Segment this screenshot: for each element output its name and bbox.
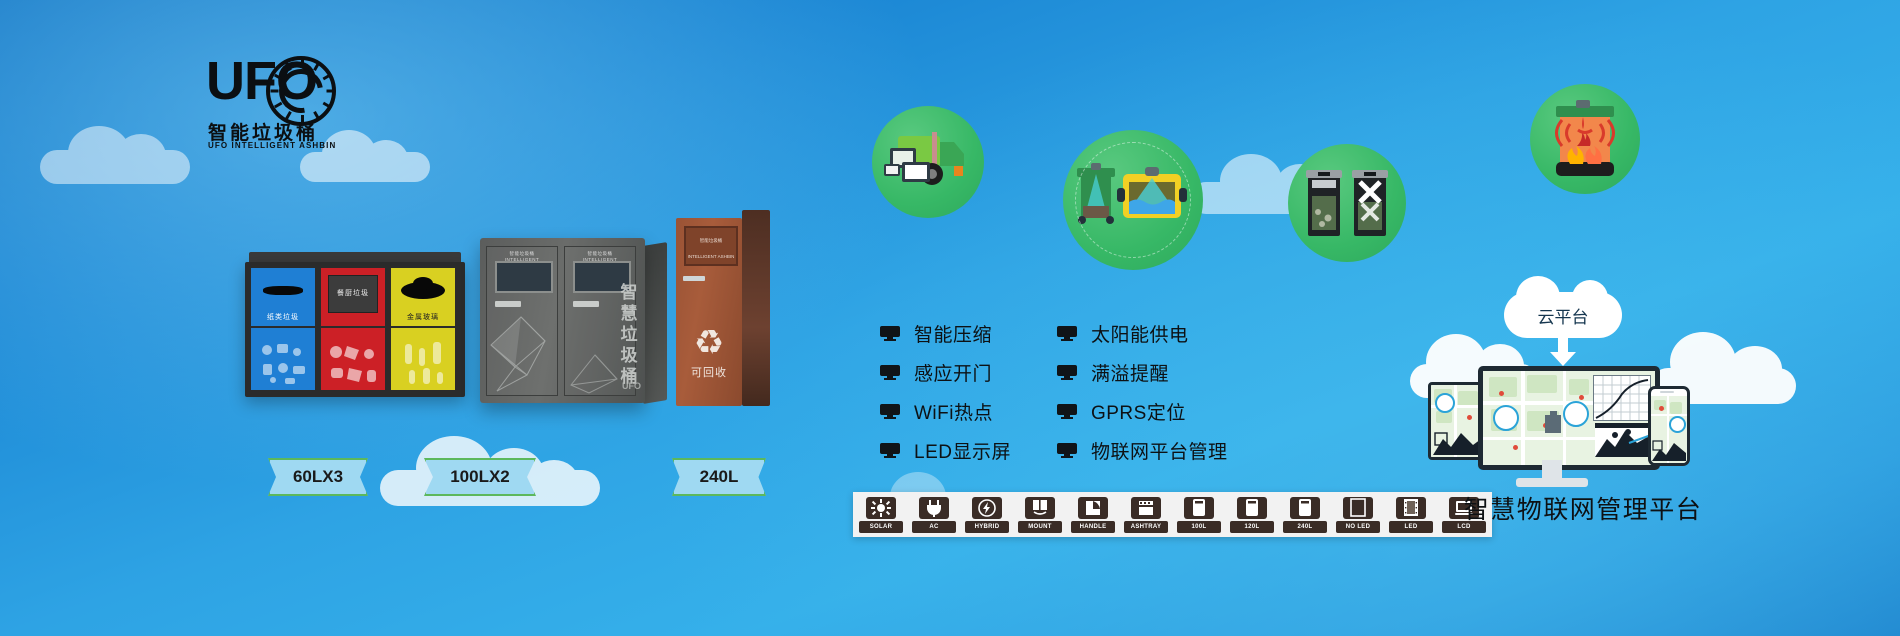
monitor-icon [880, 365, 900, 380]
product-tri-bin: 纸类垃圾 餐厨垃圾 [245, 262, 465, 397]
recycle-bin-plate: 智能垃圾桶 INTELLIGENT ASHBIN [684, 226, 738, 266]
recycle-icon: ♻ [690, 326, 728, 360]
logo-ring-icon [266, 56, 336, 126]
map-view [1651, 396, 1687, 463]
feature-column-left: 智能压缩 感应开门 WiFi热点 LED显示屏 [880, 320, 1011, 464]
feature-label: 感应开门 [914, 359, 992, 386]
circle-fire-alarm [1530, 84, 1640, 194]
recycle-bin-handle[interactable] [683, 276, 705, 281]
spec-label: ASHTRAY [1124, 521, 1168, 533]
line-chart-thumbnail [1593, 375, 1651, 421]
feature-label: WiFi热点 [914, 398, 993, 425]
spec-label: 120L [1230, 521, 1274, 533]
feature-item: 感应开门 [880, 359, 1011, 386]
tri-bin-label-0: 纸类垃圾 [251, 312, 315, 322]
bin-fire-alarm-icon [1530, 84, 1640, 194]
cloud-platform-label: 云平台 [1504, 292, 1622, 338]
feature-label: 智能压缩 [914, 320, 992, 347]
bar-chart-thumbnail [1595, 423, 1651, 457]
garbage-truck-icon [872, 106, 984, 218]
feature-label: 满溢提醒 [1091, 359, 1169, 386]
spec-item-ashtray[interactable]: ASHTRAY [1124, 497, 1168, 533]
feature-item: WiFi热点 [880, 398, 1011, 425]
brand-name-en: UFO INTELLIGENT ASHBIN [208, 141, 336, 150]
duo-bin-handle[interactable] [573, 301, 599, 307]
monitor-icon [880, 326, 900, 341]
mount-icon [1025, 497, 1055, 519]
feature-label: LED显示屏 [914, 437, 1011, 464]
platform-title: 智慧物联网管理平台 [1398, 490, 1768, 526]
spec-label: HYBRID [965, 521, 1009, 533]
feature-item: 物联网平台管理 [1057, 437, 1228, 464]
product-duo-bin: 智能垃圾桶 INTELLIGENT ASHBIN 智能垃圾桶 INTELLIGE… [480, 238, 645, 403]
cloud-platform-illustration: 云平台 [1432, 292, 1732, 502]
circle-fill-level-sensor [1063, 130, 1203, 270]
spec-item-hybrid[interactable]: HYBRID [965, 497, 1009, 533]
spec-label: 100L [1177, 521, 1221, 533]
feature-list: 智能压缩 感应开门 WiFi热点 LED显示屏 太阳能供电 满溢提醒 [880, 320, 1227, 464]
handle-icon [1078, 497, 1108, 519]
capacity-banner-duo: 100LX2 [424, 458, 536, 496]
spec-icon-strip: SOLAR AC HYBRID MOUNT [853, 492, 1492, 537]
duo-bin-logo-mini: UFO [622, 381, 641, 391]
spec-label: MOUNT [1018, 521, 1062, 533]
brand-logo: UFO 智能垃圾桶 UFO INTELLIGENT ASHBIN [200, 52, 330, 157]
spec-label: 240L [1283, 521, 1327, 533]
tri-bin-label-1: 餐厨垃圾 [329, 288, 377, 298]
spec-item-handle[interactable]: HANDLE [1071, 497, 1115, 533]
map-view [1483, 371, 1655, 465]
device-desktop-monitor [1478, 366, 1660, 470]
device-smartphone [1648, 386, 1690, 466]
tri-bin-panel: 餐厨垃圾 [328, 275, 378, 313]
spec-item-ac[interactable]: AC [912, 497, 956, 533]
feature-item: LED显示屏 [880, 437, 1011, 464]
bin-120l-icon [1237, 497, 1267, 519]
circle-collection-truck [872, 106, 984, 218]
spec-item-100l[interactable]: 100L [1177, 497, 1221, 533]
spec-label: NO LED [1336, 521, 1380, 533]
capacity-banner-recycle: 240L [672, 458, 766, 496]
monitor-base [1516, 478, 1588, 487]
feature-label: GPRS定位 [1091, 398, 1186, 425]
monitor-stand [1542, 460, 1562, 480]
tri-bin-label-2: 金属玻璃 [391, 312, 455, 322]
capacity-label: 240L [700, 467, 739, 487]
hybrid-bolt-icon [972, 497, 1002, 519]
feature-label: 物联网平台管理 [1091, 437, 1228, 464]
poster-canvas: UFO 智能垃圾桶 UFO INTELLIGENT ASHBIN 纸类垃圾 [0, 0, 1900, 636]
spec-label: AC [912, 521, 956, 533]
compaction-bins-icon [1288, 144, 1406, 262]
circle-compaction [1288, 144, 1406, 262]
feature-item: GPRS定位 [1057, 398, 1228, 425]
sun-icon [866, 497, 896, 519]
monitor-icon [1057, 365, 1077, 380]
bin-240l-icon [1290, 497, 1320, 519]
capacity-label: 60LX3 [293, 467, 343, 487]
no-led-icon [1343, 497, 1373, 519]
duo-bin-body-text: 智慧垃圾桶 [619, 282, 639, 387]
monitor-icon [1057, 326, 1077, 341]
product-recycle-bin: 智能垃圾桶 INTELLIGENT ASHBIN ♻ 可回收 [676, 218, 768, 406]
capacity-label: 100LX2 [450, 467, 510, 487]
spec-item-240l[interactable]: 240L [1283, 497, 1327, 533]
plate-text-en: INTELLIGENT ASHBIN [686, 253, 736, 260]
spec-item-no-led[interactable]: NO LED [1336, 497, 1380, 533]
feature-item: 太阳能供电 [1057, 320, 1228, 347]
plug-icon [919, 497, 949, 519]
feature-item: 智能压缩 [880, 320, 1011, 347]
spec-item-120l[interactable]: 120L [1230, 497, 1274, 533]
monitor-icon [880, 443, 900, 458]
spec-item-mount[interactable]: MOUNT [1018, 497, 1062, 533]
cloud-platform-badge: 云平台 [1504, 292, 1622, 338]
duo-bin-screen [495, 261, 553, 293]
capacity-banner-tri: 60LX3 [268, 458, 368, 496]
spec-label: HANDLE [1071, 521, 1115, 533]
monitor-icon [1057, 443, 1077, 458]
spec-label: SOLAR [859, 521, 903, 533]
monitor-icon [1057, 404, 1077, 419]
feature-column-right: 太阳能供电 满溢提醒 GPRS定位 物联网平台管理 [1057, 320, 1228, 464]
feature-item: 满溢提醒 [1057, 359, 1228, 386]
recycle-bin-label: 可回收 [676, 364, 742, 380]
plate-text-cn: 智能垃圾桶 [686, 237, 736, 244]
bin-100l-icon [1184, 497, 1214, 519]
ashtray-icon [1131, 497, 1161, 519]
spec-item-solar[interactable]: SOLAR [859, 497, 903, 533]
feature-label: 太阳能供电 [1091, 320, 1189, 347]
monitor-icon [880, 404, 900, 419]
